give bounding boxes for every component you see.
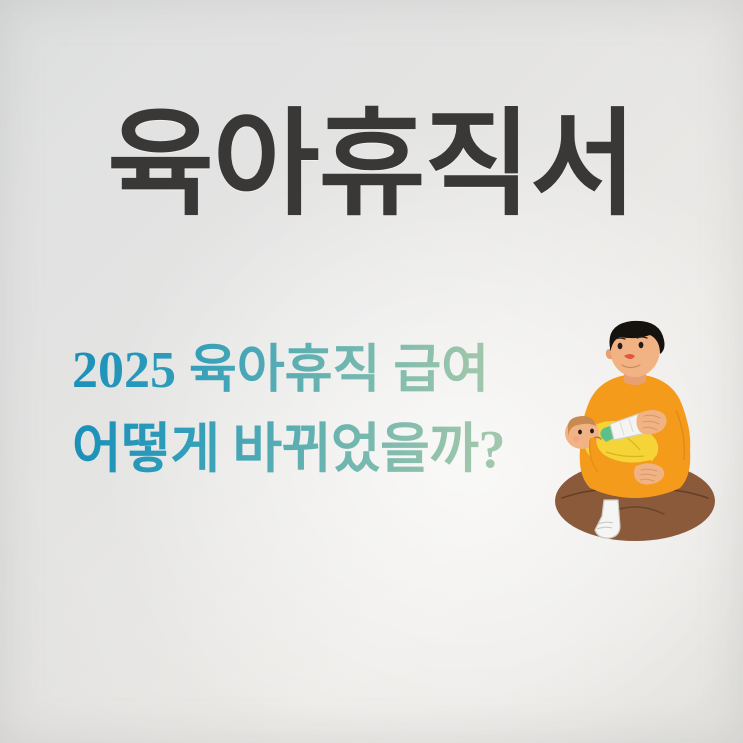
father-holding-baby-illustration xyxy=(540,318,730,563)
subtitle-line-1: 2025 육아휴직 급여 xyxy=(72,332,572,410)
father-head xyxy=(606,321,665,377)
poster-canvas: 육아휴직서 2025 육아휴직 급여 어떻게 바뀌었을까? xyxy=(0,0,743,743)
page-title: 육아휴직서 xyxy=(0,104,743,226)
subtitle-block: 2025 육아휴직 급여 어떻게 바뀌었을까? xyxy=(72,332,572,488)
subtitle-line-2: 어떻게 바뀌었을까? xyxy=(72,410,572,488)
